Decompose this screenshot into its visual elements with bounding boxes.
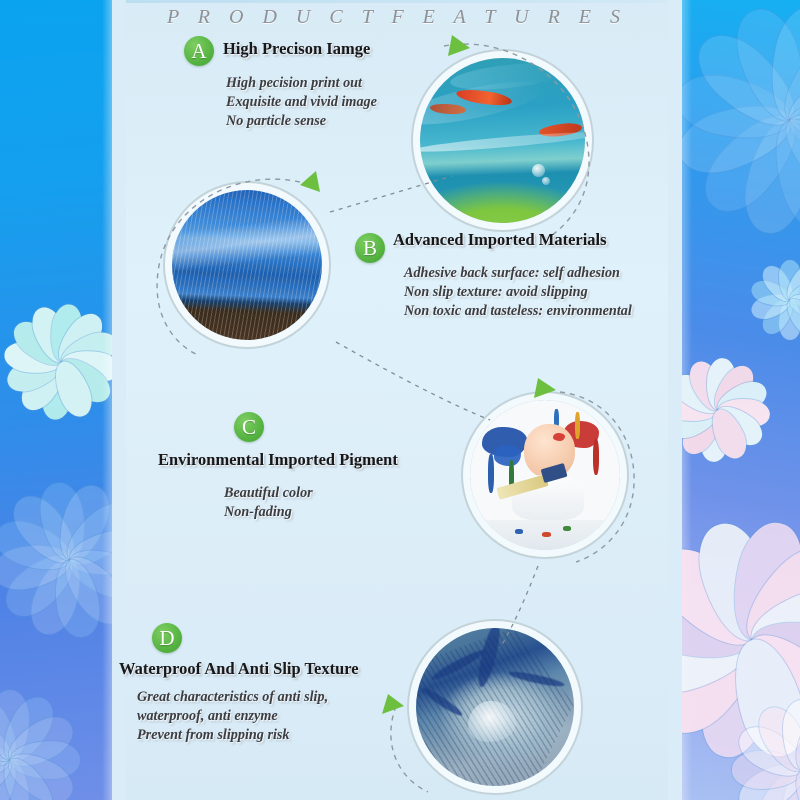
feature-c-line: Non-fading [224, 503, 313, 522]
right-gap-strip [668, 0, 682, 800]
feature-a-badge: A [184, 36, 214, 66]
feature-d-title: Waterproof And Anti Slip Texture [119, 659, 359, 679]
feature-b-title: Advanced Imported Materials [393, 230, 607, 250]
feature-c-line: Beautiful color [224, 484, 313, 503]
painting-baby-photo [470, 400, 620, 550]
feature-d-badge: D [152, 623, 182, 653]
blue-fabric-photo-inner [172, 190, 322, 340]
feature-a-line: No particle sense [226, 112, 377, 131]
painting-baby-photo-inner [470, 400, 620, 550]
feature-c-lines: Beautiful color Non-fading [224, 484, 313, 522]
feature-d-lines: Great characteristics of anti slip, wate… [137, 688, 328, 745]
left-gap-strip [112, 0, 126, 800]
koi-pond-photo [420, 58, 585, 223]
water-surface-line [420, 129, 585, 155]
water-drop-highlight [468, 701, 515, 742]
feature-b-line: Non toxic and tasteless: environmental [404, 302, 632, 321]
bubble [532, 164, 545, 177]
feature-a-line: High pecision print out [226, 74, 377, 93]
panel-top-divider [126, 0, 668, 3]
water-droplet-photo-inner [416, 628, 574, 786]
page-title: P R O D U C T F E A T U R E S [126, 6, 668, 29]
feature-b-line: Adhesive back surface: self adhesion [404, 264, 632, 283]
feature-c-badge: C [234, 412, 264, 442]
right-decorative-panel [682, 0, 800, 800]
feature-c-title: Environmental Imported Pigment [158, 450, 398, 470]
feature-b-lines: Adhesive back surface: self adhesion Non… [404, 264, 632, 321]
feature-b-line: Non slip texture: avoid slipping [404, 283, 632, 302]
left-decorative-panel [0, 0, 112, 800]
cheek-paint [553, 433, 565, 441]
feature-a-lines: High pecision print out Exquisite and vi… [226, 74, 377, 131]
content-panel: P R O D U C T F E A T U R E S [126, 0, 668, 800]
water-droplet-photo [416, 628, 574, 786]
feature-d-line: Great characteristics of anti slip, [137, 688, 328, 707]
feature-a-line: Exquisite and vivid image [226, 93, 377, 112]
feature-b-badge: B [355, 233, 385, 263]
product-features-infographic: P R O D U C T F E A T U R E S [0, 0, 800, 800]
paint-drip [488, 454, 494, 493]
paint-drip [575, 412, 580, 439]
feature-d-line: waterproof, anti enzyme [137, 707, 328, 726]
koi-pond-photo-inner [420, 58, 585, 223]
feature-d-line: Prevent from slipping risk [137, 726, 328, 745]
blue-fabric-photo [172, 190, 322, 340]
paint-speck [542, 532, 551, 537]
feature-a-title: High Precison Iamge [223, 39, 370, 59]
paint-drip [593, 439, 599, 475]
paint-speck [563, 526, 571, 531]
bubble [542, 177, 550, 185]
paint-speck [515, 529, 523, 534]
paint-splatter [494, 445, 521, 466]
